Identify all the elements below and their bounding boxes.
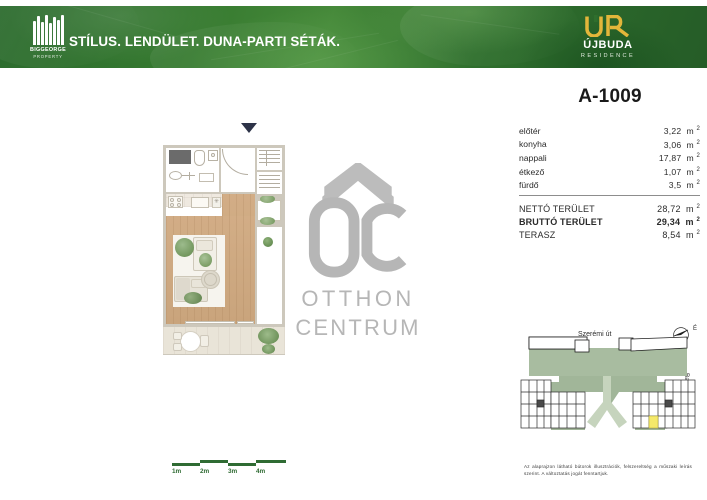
plant-large-left <box>175 238 194 257</box>
otthon-centrum-watermark: OTTHON CENTRUM <box>298 163 418 341</box>
scale-segment <box>172 463 200 466</box>
total-area-row: NETTÓ TERÜLET28,72 m 2 <box>519 201 700 214</box>
scale-label: 1m <box>172 468 181 475</box>
logo-bars-icon <box>28 15 68 45</box>
total-area-value: 8,54 m 2 <box>662 227 700 242</box>
site-center-left-building <box>551 392 585 428</box>
hob-burner <box>177 198 181 202</box>
total-area-row: BRUTTÓ TERÜLET29,34 m 2 <box>519 214 700 227</box>
wall-interior <box>257 194 282 196</box>
plant-on-desk <box>260 195 275 203</box>
hob-burner <box>170 203 174 207</box>
total-area-list: NETTÓ TERÜLET28,72 m 2BRUTTÓ TERÜLET29,3… <box>519 201 700 241</box>
shelf-line <box>259 158 280 159</box>
shelf-line <box>259 175 280 176</box>
fixture-cabinet <box>199 173 214 182</box>
terrace-chair <box>200 335 209 347</box>
watermark-line-2: CENTRUM <box>295 315 420 341</box>
shelf-line <box>259 183 280 184</box>
wall-interior <box>166 192 222 194</box>
plant-under-desk <box>260 217 275 225</box>
floorplan-document: BIGGEORGE PROPERTY STÍLUS. LENDÜLET. DUN… <box>0 0 707 500</box>
shelf-line <box>259 150 280 151</box>
brand-left-name: BIGGEORGE <box>30 47 66 53</box>
site-green-band <box>529 348 687 376</box>
terrace-plant-large <box>258 328 279 344</box>
scale-label: 2m <box>200 468 209 475</box>
ujbuda-residence-logo: ÚJBUDA RESIDENCE <box>562 15 654 63</box>
total-area-row: TERASZ8,54 m 2 <box>519 227 700 240</box>
scale-segment <box>256 460 286 463</box>
area-row-value: 3,5 m 2 <box>669 177 700 192</box>
wall-interior <box>257 170 282 172</box>
header-banner: BIGGEORGE PROPERTY STÍLUS. LENDÜLET. DUN… <box>0 6 707 68</box>
table-divider <box>519 195 700 196</box>
terrace-chair <box>173 332 182 340</box>
terrace-round-table <box>180 331 201 352</box>
wall-interior <box>219 148 221 194</box>
header-tagline: STÍLUS. LENDÜLET. DUNA-PARTI SÉTÁK. <box>69 34 340 49</box>
leaf-vein <box>62 6 178 38</box>
area-row-name: fürdő <box>519 179 539 193</box>
scale-segment <box>228 463 256 466</box>
shelf-line <box>266 150 267 166</box>
fixture-washbasin <box>169 171 182 180</box>
fixture-sink <box>191 197 209 208</box>
wall-interior <box>221 192 255 194</box>
unit-id-title: A-1009 <box>520 86 700 108</box>
round-table-inner <box>204 273 217 286</box>
disclaimer-text: Az alaprajzon látható bútorok illusztrác… <box>524 464 692 477</box>
fridge-snowflake-icon: ✳ <box>214 200 219 205</box>
ur-monogram-icon <box>582 15 634 37</box>
shelf-line <box>259 154 280 155</box>
bed-cushion-plant <box>199 253 212 267</box>
area-row: nappali17,87 m 2 <box>519 150 700 164</box>
entrance-direction-marker-icon <box>241 123 257 133</box>
area-row-name: konyha <box>519 138 547 152</box>
bed-pillow <box>196 240 213 251</box>
leaf-vein <box>421 14 560 34</box>
shelf-line <box>259 162 280 163</box>
total-area-name: TERASZ <box>519 229 555 242</box>
shelf-line <box>259 187 280 188</box>
shelf-line <box>259 179 280 180</box>
watermark-line-1: OTTHON <box>301 286 414 312</box>
fixture-washer-drum <box>211 153 215 157</box>
area-row-name: előtér <box>519 125 541 139</box>
total-area-name: NETTÓ TERÜLET <box>519 203 595 216</box>
scale-segment <box>200 460 228 463</box>
room-wardrobe <box>257 148 282 170</box>
area-row: fürdő3,5 m 2 <box>519 177 700 191</box>
terrace-plant-small <box>262 344 275 354</box>
terrace-window <box>237 321 254 324</box>
fixture-shower <box>169 150 191 164</box>
site-plan <box>515 330 700 450</box>
fixture-line <box>189 172 190 180</box>
door-opening <box>221 148 249 149</box>
site-plan-drawing <box>515 330 700 450</box>
scale-segments <box>172 459 292 467</box>
apartment-outline: ✳ <box>163 145 285 327</box>
brand-left-sub: PROPERTY <box>33 54 62 59</box>
terrace-sliding-door <box>185 321 235 324</box>
floor-plan-drawing: ✳ <box>163 123 288 348</box>
area-row: konyha3,06 m 2 <box>519 137 700 151</box>
fixture-toilet <box>194 150 205 166</box>
leaf-decoration <box>400 6 580 66</box>
site-right-building <box>665 380 695 428</box>
scale-label: 3m <box>228 468 237 475</box>
room-area-list: előtér3,22 m 2konyha3,06 m 2nappali17,87… <box>519 123 700 191</box>
area-row-name: nappali <box>519 152 547 166</box>
terrace-edge <box>163 354 285 355</box>
sofa-throw-plant <box>184 292 202 304</box>
oc-logo-icon <box>304 163 412 280</box>
wall-interior <box>255 148 257 324</box>
scale-bar: 1m2m3m4m <box>172 459 292 478</box>
terrace-chair <box>173 343 182 351</box>
area-row-name: étkező <box>519 166 544 180</box>
brand-right-name: ÚJBUDA <box>583 39 632 51</box>
scale-label: 4m <box>256 468 265 475</box>
area-row: étkező1,07 m 2 <box>519 164 700 178</box>
area-schedule-table: előtér3,22 m 2konyha3,06 m 2nappali17,87… <box>519 123 700 241</box>
hob-burner <box>170 198 174 202</box>
site-left-building <box>521 380 551 428</box>
highlighted-unit <box>649 416 658 428</box>
brand-right-sub: RESIDENCE <box>581 53 635 59</box>
hob-burner <box>177 203 181 207</box>
area-row: előtér3,22 m 2 <box>519 123 700 137</box>
biggeorge-property-logo: BIGGEORGE PROPERTY <box>22 15 74 61</box>
scale-labels: 1m2m3m4m <box>172 468 292 478</box>
plant-corridor <box>263 237 273 247</box>
total-area-name: BRUTTÓ TERÜLET <box>519 216 603 229</box>
